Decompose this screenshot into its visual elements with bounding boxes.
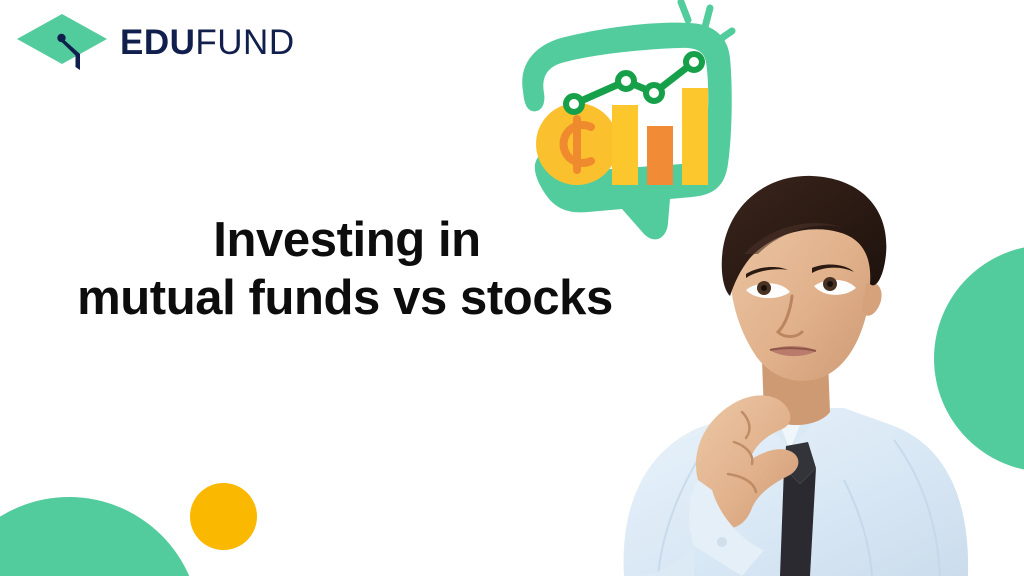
- edufund-wordmark: EDUFUND: [120, 25, 295, 60]
- growth-line-chart-nodes: [566, 54, 702, 112]
- edufund-logo[interactable]: EDUFUND: [14, 10, 295, 72]
- thinking-businessman-photo: [594, 150, 994, 576]
- banner-canvas: EDUFUND Investing in mutual funds vs sto…: [0, 0, 1024, 576]
- logo-word-fund: FUND: [195, 23, 294, 62]
- green-circle-bottom-left-decoration: [0, 497, 200, 576]
- page-title-line-2: mutual funds vs stocks: [30, 269, 660, 327]
- yellow-circle-bottom-left-decoration: [190, 483, 257, 550]
- logo-word-edu: EDU: [120, 23, 195, 62]
- graduation-cap-icon: [14, 10, 110, 72]
